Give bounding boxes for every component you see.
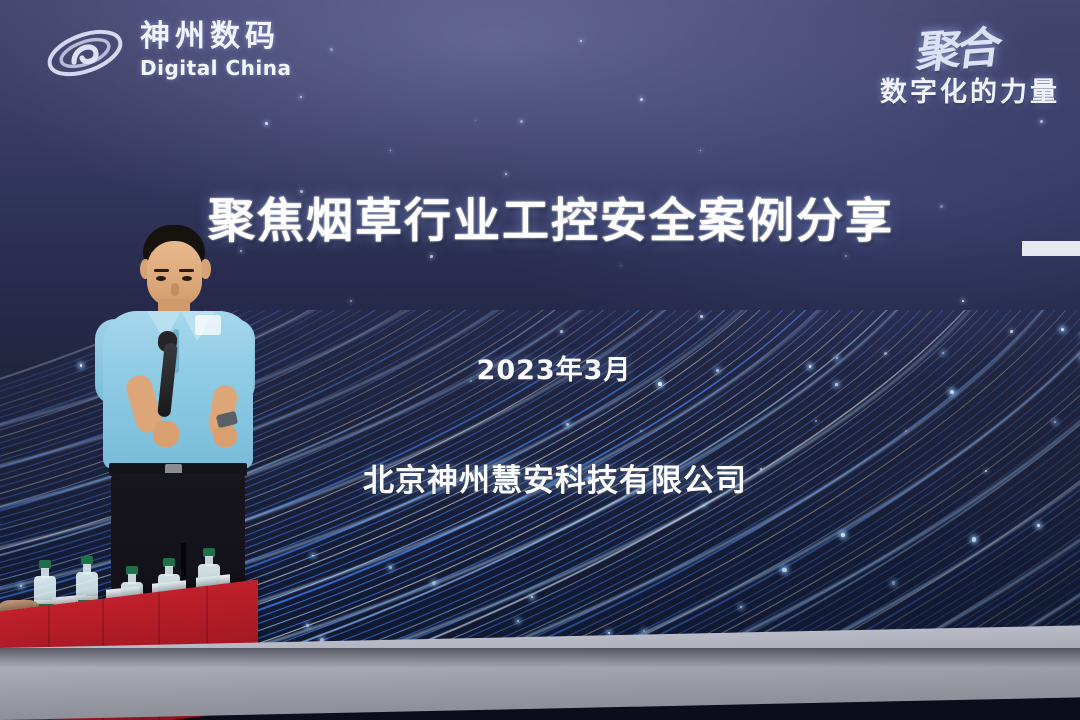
speaker-face	[147, 241, 202, 307]
screen-edge-artifact	[1022, 241, 1080, 256]
logo-name-cn: 神州数码	[140, 20, 292, 54]
speaker-hand-left	[153, 421, 179, 447]
speaker-person	[95, 225, 275, 625]
speaker-brow-left	[154, 269, 169, 272]
speaker-nose	[171, 283, 179, 296]
stage-floor-shadow	[0, 648, 1080, 668]
speaker-hand-right	[213, 425, 237, 447]
logo-name-en: Digital China	[140, 56, 292, 80]
speaker-brow-right	[179, 269, 194, 272]
digital-china-swirl-icon	[44, 22, 126, 84]
speaker-eye-right	[182, 276, 192, 281]
event-slogan-logo: 聚合 数字化的力量	[800, 14, 1060, 114]
speaker-eye-left	[156, 276, 166, 281]
digital-china-logo: 神州数码 Digital China	[44, 18, 314, 94]
stage-photo: 神州数码 Digital China 聚合 数字化的力量 聚焦烟草行业工控安全案…	[0, 0, 1080, 720]
speaker-chest-logo-icon	[195, 315, 221, 335]
slogan-calligraphy: 聚合	[914, 11, 1003, 80]
